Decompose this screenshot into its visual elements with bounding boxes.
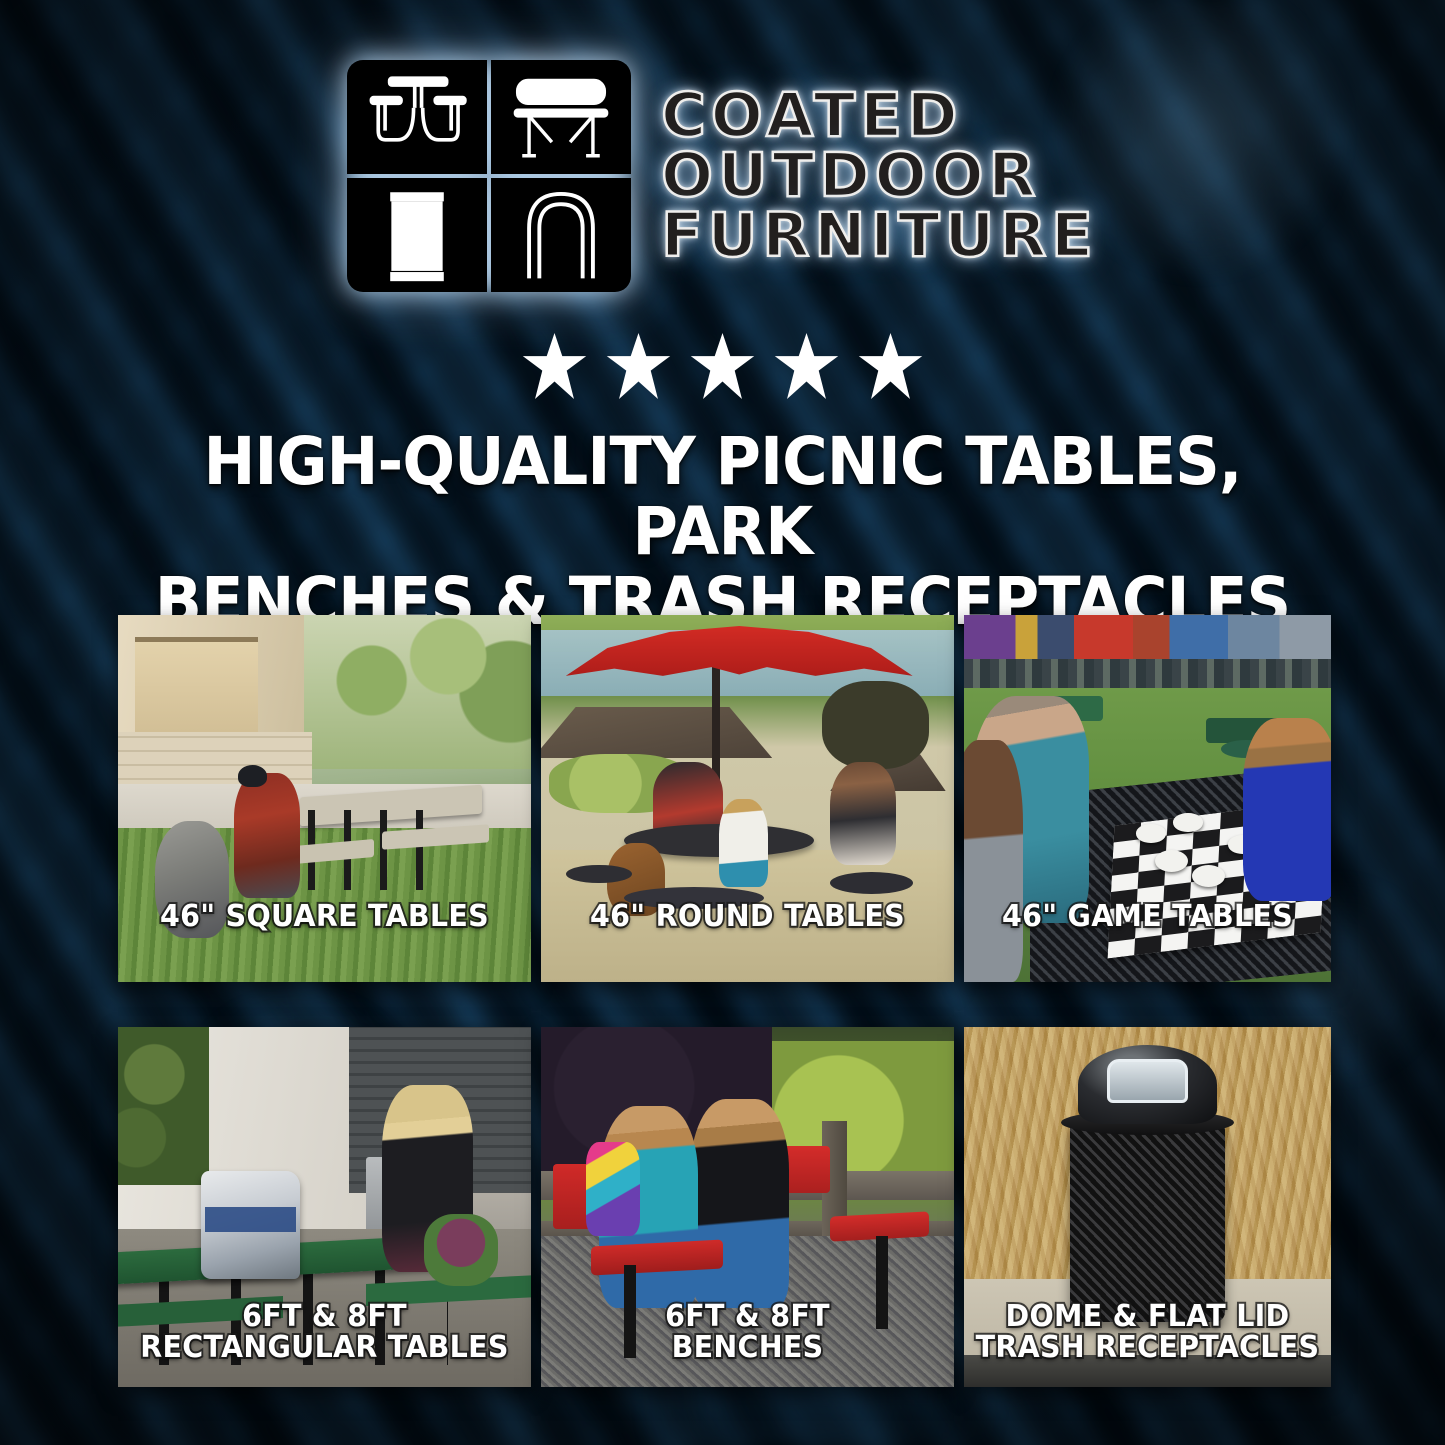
caption-line-2: RECTANGULAR TABLES <box>128 1332 520 1363</box>
brand-name-line-2: OUTDOOR <box>661 147 1098 205</box>
caption-line-1: 6FT & 8FT <box>128 1301 520 1332</box>
product-card-round-tables[interactable]: 46" ROUND TABLES <box>541 615 954 982</box>
brand-logo: COATED OUTDOOR FURNITURE <box>0 60 1445 292</box>
star-icon-4 <box>774 333 840 399</box>
caption-line-1: DOME & FLAT LID <box>973 1301 1322 1332</box>
headline: HIGH-QUALITY PICNIC TABLES, PARK BENCHES… <box>43 427 1401 637</box>
brand-name-line-1: COATED <box>661 87 1098 145</box>
picnic-table-icon <box>347 60 487 174</box>
product-caption-rectangular-tables: 6FT & 8FT RECTANGULAR TABLES <box>128 1301 520 1363</box>
caption-line-2: TRASH RECEPTACLES <box>973 1332 1322 1363</box>
star-icon-5 <box>858 333 924 399</box>
caption-line-1: 46" ROUND TABLES <box>551 901 943 932</box>
star-icon-3 <box>690 333 756 399</box>
product-caption-round-tables: 46" ROUND TABLES <box>551 901 943 932</box>
caption-line-1: 46" GAME TABLES <box>973 901 1322 932</box>
headline-line-1: HIGH-QUALITY PICNIC TABLES, PARK <box>203 423 1241 570</box>
logo-icon-grid <box>347 60 631 292</box>
product-caption-square-tables: 46" SQUARE TABLES <box>128 901 520 932</box>
bench-table-icon <box>491 60 631 174</box>
caption-line-1: 46" SQUARE TABLES <box>128 901 520 932</box>
product-card-rectangular-tables[interactable]: 6FT & 8FT RECTANGULAR TABLES <box>118 1027 531 1387</box>
product-caption-trash-receptacles: DOME & FLAT LID TRASH RECEPTACLES <box>973 1301 1322 1363</box>
product-caption-benches: 6FT & 8FT BENCHES <box>551 1301 943 1363</box>
star-icon-1 <box>522 333 588 399</box>
brand-name-line-3: FURNITURE <box>661 207 1098 265</box>
star-icon-2 <box>606 333 672 399</box>
product-caption-game-tables: 46" GAME TABLES <box>973 901 1322 932</box>
caption-line-2: BENCHES <box>551 1332 943 1363</box>
bike-rack-icon <box>491 178 631 292</box>
product-card-game-tables[interactable]: 46" GAME TABLES <box>964 615 1331 982</box>
five-star-rating <box>0 333 1445 399</box>
caption-line-1: 6FT & 8FT <box>551 1301 943 1332</box>
product-card-square-tables[interactable]: 46" SQUARE TABLES <box>118 615 531 982</box>
trash-receptacle-icon <box>347 178 487 292</box>
product-grid: 46" SQUARE TABLES <box>118 615 1327 1387</box>
product-card-benches[interactable]: 6FT & 8FT BENCHES <box>541 1027 954 1387</box>
brand-wordmark: COATED OUTDOOR FURNITURE <box>661 87 1098 265</box>
product-card-trash-receptacles[interactable]: DOME & FLAT LID TRASH RECEPTACLES <box>964 1027 1331 1387</box>
